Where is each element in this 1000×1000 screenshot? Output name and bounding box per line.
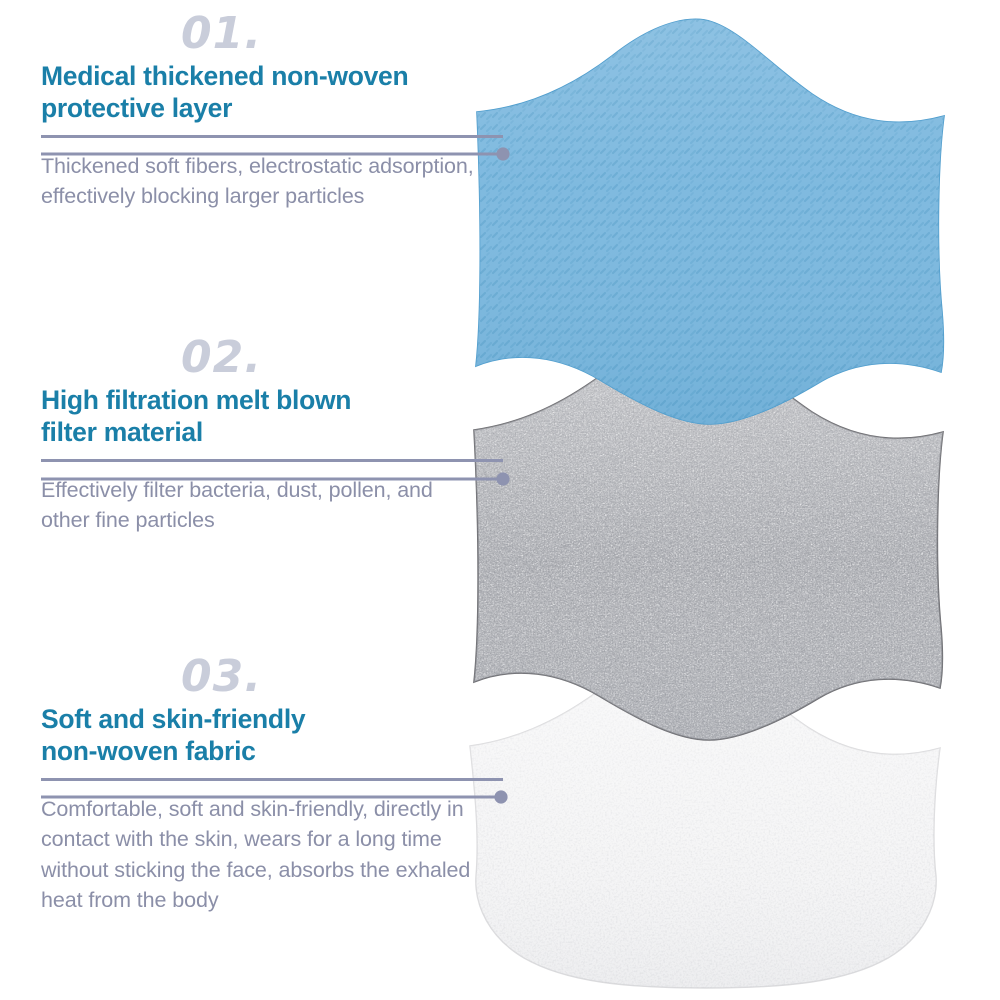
section-title-1-line2: protective layer — [41, 93, 232, 123]
section-rule-3 — [41, 778, 503, 781]
section-body-1: Thickened soft fibers, electrostatic ads… — [41, 151, 481, 212]
section-title-1: Medical thickened non-woven protective l… — [41, 60, 481, 125]
section-body-2: Effectively filter bacteria, dust, polle… — [41, 475, 481, 536]
section-rule-2 — [41, 459, 503, 462]
connector-dot-2 — [496, 472, 509, 485]
section-outer-protective-layer: 01. Medical thickened non-woven protecti… — [41, 12, 481, 212]
section-body-3: Comfortable, soft and skin-friendly, dir… — [41, 794, 481, 916]
section-number-3: 03. — [41, 655, 481, 699]
section-title-3-line1: Soft and skin-friendly — [41, 704, 305, 734]
section-number-1: 01. — [41, 12, 481, 56]
meltblown-filter-layer — [440, 320, 980, 760]
section-number-2: 02. — [41, 336, 481, 380]
section-title-1-line1: Medical thickened non-woven — [41, 61, 408, 91]
connector-dot-1 — [496, 147, 509, 160]
outer-protective-layer — [440, 0, 980, 440]
section-meltblown-filter-layer: 02. High filtration melt blown filter ma… — [41, 336, 481, 536]
mask-layers-infographic: 01. Medical thickened non-woven protecti… — [0, 0, 1000, 1000]
inner-skin-contact-layer — [440, 630, 980, 1000]
section-title-2-line1: High filtration melt blown — [41, 385, 351, 415]
section-title-2: High filtration melt blown filter materi… — [41, 384, 481, 449]
section-rule-1 — [41, 135, 503, 138]
section-title-3: Soft and skin-friendly non-woven fabric — [41, 703, 481, 768]
section-inner-skin-contact-layer: 03. Soft and skin-friendly non-woven fab… — [41, 655, 481, 916]
section-title-3-line2: non-woven fabric — [41, 736, 256, 766]
section-title-2-line2: filter material — [41, 417, 203, 447]
connector-dot-3 — [494, 790, 507, 803]
